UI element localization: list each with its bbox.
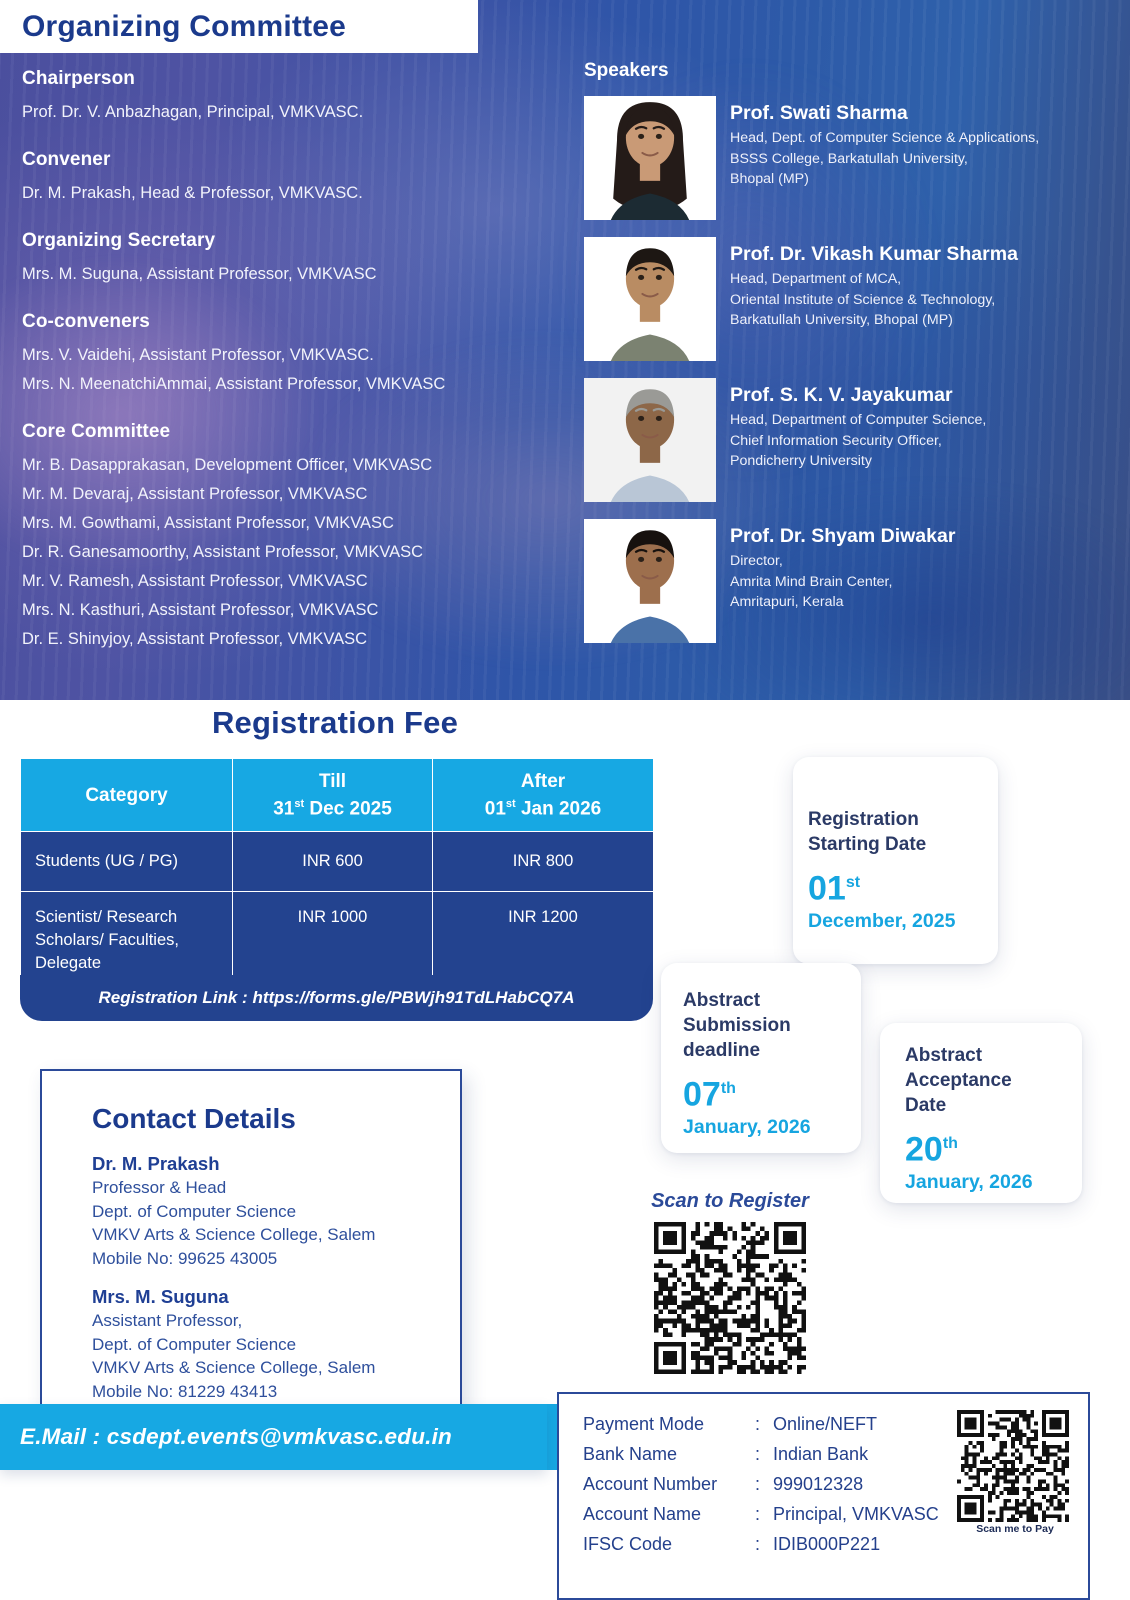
payment-detail-key: Account Number [583, 1469, 755, 1499]
contact-details-box: Contact Details Dr. M. PrakashProfessor … [40, 1069, 462, 1410]
fee-col-after-rest: Jan 2026 [516, 798, 602, 819]
qr-code-register-icon[interactable] [635, 1222, 825, 1374]
speaker-affiliation-line: Head, Department of Computer Science, [730, 410, 986, 431]
contact-person-name: Mrs. M. Suguna [92, 1284, 460, 1309]
speaker-affiliation-line: Amrita Mind Brain Center, [730, 572, 955, 593]
date-card-month: December, 2025 [808, 908, 998, 934]
speaker-name: Prof. Dr. Shyam Diwakar [730, 523, 955, 549]
speaker-affiliation: Head, Dept. of Computer Science & Applic… [730, 128, 1039, 190]
payment-detail-row: Account Name:Principal, VMKVASC [583, 1499, 939, 1529]
date-card-abstract-submission: AbstractSubmissiondeadline 07th January,… [661, 963, 861, 1153]
contact-person-line: VMKV Arts & Science College, Salem [92, 1223, 460, 1247]
fee-col-till-ordinal: st [294, 798, 304, 810]
committee-member: Dr. M. Prakash, Head & Professor, VMKVAS… [22, 179, 582, 208]
committee-group-heading: Organizing Secretary [22, 230, 582, 252]
qr-code-pay-icon[interactable] [954, 1410, 1072, 1522]
date-card-label-line: Date [905, 1093, 1082, 1118]
contact-person-name: Dr. M. Prakash [92, 1151, 460, 1176]
committee-group-heading: Co-conveners [22, 311, 582, 333]
payment-detail-value: Principal, VMKVASC [773, 1499, 939, 1529]
date-card-day-number: 07 [683, 1075, 721, 1113]
speaker-affiliation-line: BSSS College, Barkatullah University, [730, 149, 1039, 170]
speaker-info: Prof. S. K. V. JayakumarHead, Department… [730, 378, 986, 472]
payment-detail-value: Online/NEFT [773, 1409, 877, 1439]
registration-link-text[interactable]: Registration Link : https://forms.gle/PB… [98, 988, 574, 1008]
date-card-label-line: deadline [683, 1038, 861, 1063]
speaker-affiliation-line: Pondicherry University [730, 451, 986, 472]
payment-details-box: Payment Mode:Online/NEFTBank Name:Indian… [557, 1392, 1090, 1600]
payment-detail-value: 999012328 [773, 1469, 863, 1499]
committee-member: Mr. M. Devaraj, Assistant Professor, VMK… [22, 480, 582, 509]
email-bar[interactable]: E.Mail : csdept.events@vmkvasc.edu.in [0, 1404, 547, 1470]
page-title: Organizing Committee [22, 10, 346, 44]
speaker-name: Prof. S. K. V. Jayakumar [730, 382, 986, 408]
payment-detail-key: Payment Mode [583, 1409, 755, 1439]
registration-link-bar[interactable]: Registration Link : https://forms.gle/PB… [20, 975, 653, 1021]
payment-detail-value: Indian Bank [773, 1439, 868, 1469]
contact-person: Dr. M. PrakashProfessor & HeadDept. of C… [92, 1151, 460, 1270]
speaker-name: Prof. Swati Sharma [730, 100, 1039, 126]
payment-detail-row: Account Number:999012328 [583, 1469, 939, 1499]
speaker-affiliation-line: Head, Department of MCA, [730, 269, 1018, 290]
speaker-affiliation-line: Chief Information Security Officer, [730, 431, 986, 452]
fee-col-till-day: 31 [273, 798, 294, 819]
speaker-row: Prof. Swati SharmaHead, Dept. of Compute… [584, 96, 1104, 220]
speaker-affiliation-line: Oriental Institute of Science & Technolo… [730, 290, 1018, 311]
committee-member: Mrs. N. MeenatchiAmmai, Assistant Profes… [22, 370, 582, 399]
date-card-day-ordinal: th [721, 1080, 736, 1097]
contact-person-line: Dept. of Computer Science [92, 1333, 460, 1357]
fee-col-after: After 01st Jan 2026 [433, 759, 654, 832]
committee-member: Prof. Dr. V. Anbazhagan, Principal, VMKV… [22, 98, 582, 127]
email-text[interactable]: E.Mail : csdept.events@vmkvasc.edu.in [20, 1424, 452, 1450]
date-card-day-number: 01 [808, 869, 846, 907]
payment-detail-separator: : [755, 1439, 773, 1469]
registration-fee-table: Category Till 31st Dec 2025 After 01st J… [20, 758, 654, 992]
contact-person-line: Mobile No: 99625 43005 [92, 1247, 460, 1271]
fee-col-after-line1: After [521, 771, 565, 792]
payment-detail-row: IFSC Code:IDIB000P221 [583, 1529, 939, 1559]
speaker-affiliation: Head, Department of Computer Science,Chi… [730, 410, 986, 472]
date-card-month: January, 2026 [683, 1114, 861, 1140]
date-card-label-line: Registration [808, 807, 998, 832]
speaker-photo-vikash-kumar-sharma [584, 237, 716, 361]
speaker-photo-skv-jayakumar [584, 378, 716, 502]
speaker-row: Prof. Dr. Vikash Kumar SharmaHead, Depar… [584, 237, 1104, 361]
date-card-day-number: 20 [905, 1130, 943, 1168]
payment-detail-separator: : [755, 1409, 773, 1439]
table-row: Students (UG / PG)INR 600INR 800 [21, 832, 654, 892]
date-card-label-line: Submission [683, 1013, 861, 1038]
date-card-registration-start: RegistrationStarting Date 01st December,… [793, 757, 998, 964]
date-card-label-line: Starting Date [808, 832, 998, 857]
date-card-day-ordinal: st [846, 874, 860, 891]
speaker-affiliation-line: Barkatullah University, Bhopal (MP) [730, 310, 1018, 331]
date-card-label-line: Abstract [905, 1043, 1082, 1068]
date-card-month: January, 2026 [905, 1169, 1082, 1195]
speaker-photo-swati-sharma [584, 96, 716, 220]
committee-group-heading: Convener [22, 149, 582, 171]
payment-detail-key: IFSC Code [583, 1529, 755, 1559]
fee-col-category: Category [21, 759, 233, 832]
committee-group-heading: Core Committee [22, 421, 582, 443]
fee-cell-category: Students (UG / PG) [21, 832, 233, 892]
payment-detail-row: Payment Mode:Online/NEFT [583, 1409, 939, 1439]
fee-col-after-ordinal: st [506, 798, 516, 810]
speaker-info: Prof. Swati SharmaHead, Dept. of Compute… [730, 96, 1039, 190]
committee-member: Dr. E. Shinyjoy, Assistant Professor, VM… [22, 625, 582, 654]
contact-person-line: Mobile No: 81229 43413 [92, 1380, 460, 1404]
committee-member: Mrs. M. Suguna, Assistant Professor, VMK… [22, 260, 582, 289]
contact-details-title: Contact Details [92, 1103, 460, 1135]
committee-group-heading: Chairperson [22, 68, 582, 90]
payment-qr-block: Scan me to Pay [954, 1410, 1076, 1535]
organizing-committee-list: ChairpersonProf. Dr. V. Anbazhagan, Prin… [22, 60, 582, 654]
committee-member: Mr. V. Ramesh, Assistant Professor, VMKV… [22, 567, 582, 596]
speaker-affiliation: Director,Amrita Mind Brain Center,Amrita… [730, 551, 955, 613]
payment-detail-separator: : [755, 1469, 773, 1499]
payment-detail-key: Account Name [583, 1499, 755, 1529]
speakers-heading: Speakers [584, 60, 1104, 82]
fee-table-header-row: Category Till 31st Dec 2025 After 01st J… [21, 759, 654, 832]
contact-person-line: Dept. of Computer Science [92, 1200, 460, 1224]
scan-to-register-caption: Scan to Register [600, 1190, 860, 1213]
contact-person-line: VMKV Arts & Science College, Salem [92, 1356, 460, 1380]
speaker-photo-shyam-diwakar [584, 519, 716, 643]
fee-cell-after: INR 800 [433, 832, 654, 892]
fee-col-till-line1: Till [319, 771, 346, 792]
fee-col-till: Till 31st Dec 2025 [233, 759, 433, 832]
fee-cell-till: INR 600 [233, 832, 433, 892]
committee-member: Mrs. V. Vaidehi, Assistant Professor, VM… [22, 341, 582, 370]
contact-person-line: Assistant Professor, [92, 1309, 460, 1333]
speaker-affiliation-line: Bhopal (MP) [730, 169, 1039, 190]
fee-col-after-day: 01 [485, 798, 506, 819]
date-card-label-line: Abstract [683, 988, 861, 1013]
contact-person: Mrs. M. SugunaAssistant Professor,Dept. … [92, 1284, 460, 1403]
date-card-label: AbstractAcceptanceDate [905, 1043, 1082, 1118]
payment-detail-separator: : [755, 1499, 773, 1529]
committee-member: Mr. B. Dasapprakasan, Development Office… [22, 451, 582, 480]
contact-person-line: Professor & Head [92, 1176, 460, 1200]
date-card-label-line: Acceptance [905, 1068, 1082, 1093]
payment-details-rows: Payment Mode:Online/NEFTBank Name:Indian… [583, 1409, 939, 1559]
speaker-affiliation-line: Director, [730, 551, 955, 572]
committee-member: Dr. R. Ganesamoorthy, Assistant Professo… [22, 538, 582, 567]
speaker-affiliation-line: Amritapuri, Kerala [730, 592, 955, 613]
fee-col-till-rest: Dec 2025 [304, 798, 392, 819]
date-card-day-ordinal: th [943, 1135, 958, 1152]
speaker-name: Prof. Dr. Vikash Kumar Sharma [730, 241, 1018, 267]
date-card-label: AbstractSubmissiondeadline [683, 988, 861, 1063]
speaker-row: Prof. S. K. V. JayakumarHead, Department… [584, 378, 1104, 502]
speaker-info: Prof. Dr. Shyam DiwakarDirector,Amrita M… [730, 519, 955, 613]
committee-member: Mrs. M. Gowthami, Assistant Professor, V… [22, 509, 582, 538]
date-card-day: 20th [905, 1124, 1082, 1169]
speaker-affiliation-line: Head, Dept. of Computer Science & Applic… [730, 128, 1039, 149]
organizing-committee-title-chip: Organizing Committee [0, 0, 478, 53]
speaker-info: Prof. Dr. Vikash Kumar SharmaHead, Depar… [730, 237, 1018, 331]
date-card-day: 01st [808, 863, 998, 908]
speakers-section: Speakers Prof. Swati SharmaHead, Dept. o… [584, 60, 1104, 660]
brochure-page: Organizing Committee ChairpersonProf. Dr… [0, 0, 1130, 1600]
payment-detail-row: Bank Name:Indian Bank [583, 1439, 939, 1469]
payment-detail-key: Bank Name [583, 1439, 755, 1469]
speaker-row: Prof. Dr. Shyam DiwakarDirector,Amrita M… [584, 519, 1104, 643]
registration-fee-title: Registration Fee [20, 705, 650, 741]
payment-detail-value: IDIB000P221 [773, 1529, 880, 1559]
payment-qr-caption: Scan me to Pay [954, 1523, 1076, 1535]
date-card-abstract-acceptance: AbstractAcceptanceDate 20th January, 202… [880, 1023, 1082, 1203]
speaker-affiliation: Head, Department of MCA,Oriental Institu… [730, 269, 1018, 331]
committee-member: Mrs. N. Kasthuri, Assistant Professor, V… [22, 596, 582, 625]
scan-to-register-block: Scan to Register [600, 1190, 860, 1374]
date-card-label: RegistrationStarting Date [808, 807, 998, 857]
date-card-day: 07th [683, 1069, 861, 1114]
payment-detail-separator: : [755, 1529, 773, 1559]
